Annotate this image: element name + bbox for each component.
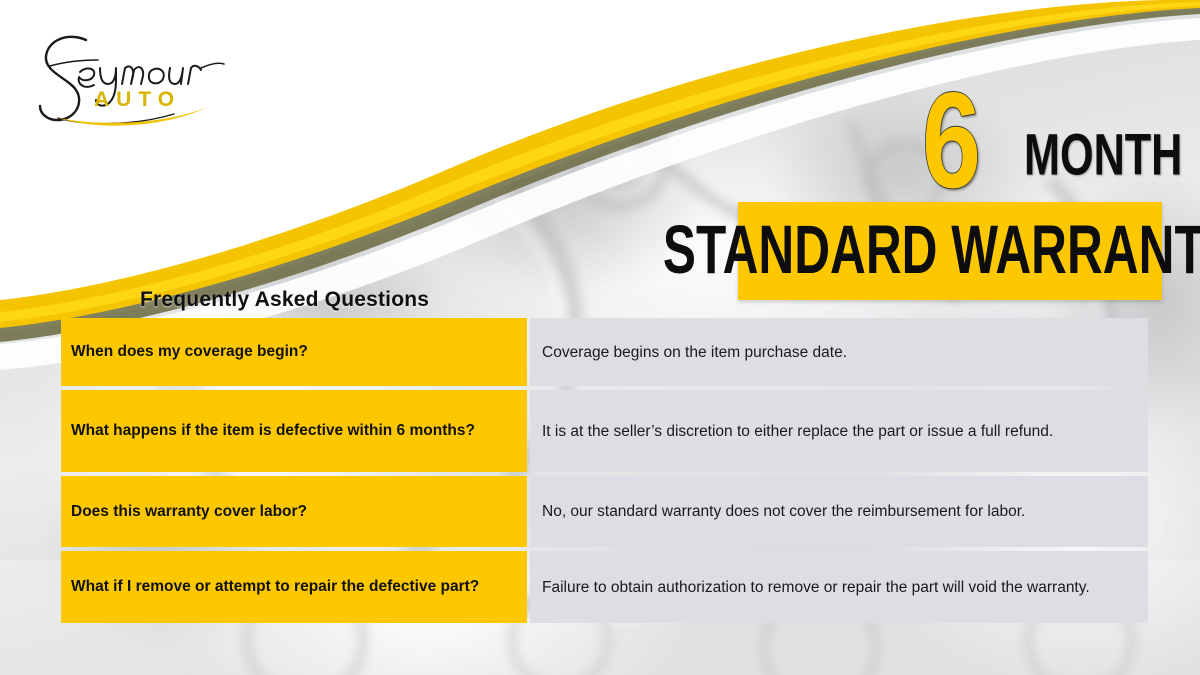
standard-warranty-banner-text: STANDARD WARRANTY	[663, 217, 1200, 285]
svg-text:AUTO: AUTO	[94, 88, 181, 111]
warranty-slide: AUTO 6 MONTH STANDARD WARRANTY Frequentl…	[0, 0, 1200, 675]
faq-question: When does my coverage begin?	[61, 318, 527, 386]
faq-answer: No, our standard warranty does not cover…	[530, 476, 1148, 547]
seymour-auto-logo: AUTO	[24, 22, 254, 132]
faq-question: What happens if the item is defective wi…	[61, 390, 527, 472]
faq-question: What if I remove or attempt to repair th…	[61, 551, 527, 623]
table-row: Does this warranty cover labor? No, our …	[61, 476, 1148, 547]
table-row: When does my coverage begin? Coverage be…	[61, 318, 1148, 386]
table-row: What happens if the item is defective wi…	[61, 390, 1148, 472]
faq-answer: Failure to obtain authorization to remov…	[530, 551, 1148, 623]
faq-answer: It is at the seller’s discretion to eith…	[530, 390, 1148, 472]
faq-question: Does this warranty cover labor?	[61, 476, 527, 547]
faq-table: When does my coverage begin? Coverage be…	[61, 318, 1148, 623]
warranty-months-number: 6	[922, 72, 979, 208]
standard-warranty-banner: STANDARD WARRANTY	[738, 202, 1162, 300]
table-row: What if I remove or attempt to repair th…	[61, 551, 1148, 623]
warranty-duration-headline: 6 MONTH	[900, 78, 1170, 198]
faq-heading: Frequently Asked Questions	[140, 288, 429, 312]
warranty-months-unit: MONTH	[1024, 126, 1182, 184]
faq-answer: Coverage begins on the item purchase dat…	[530, 318, 1148, 386]
